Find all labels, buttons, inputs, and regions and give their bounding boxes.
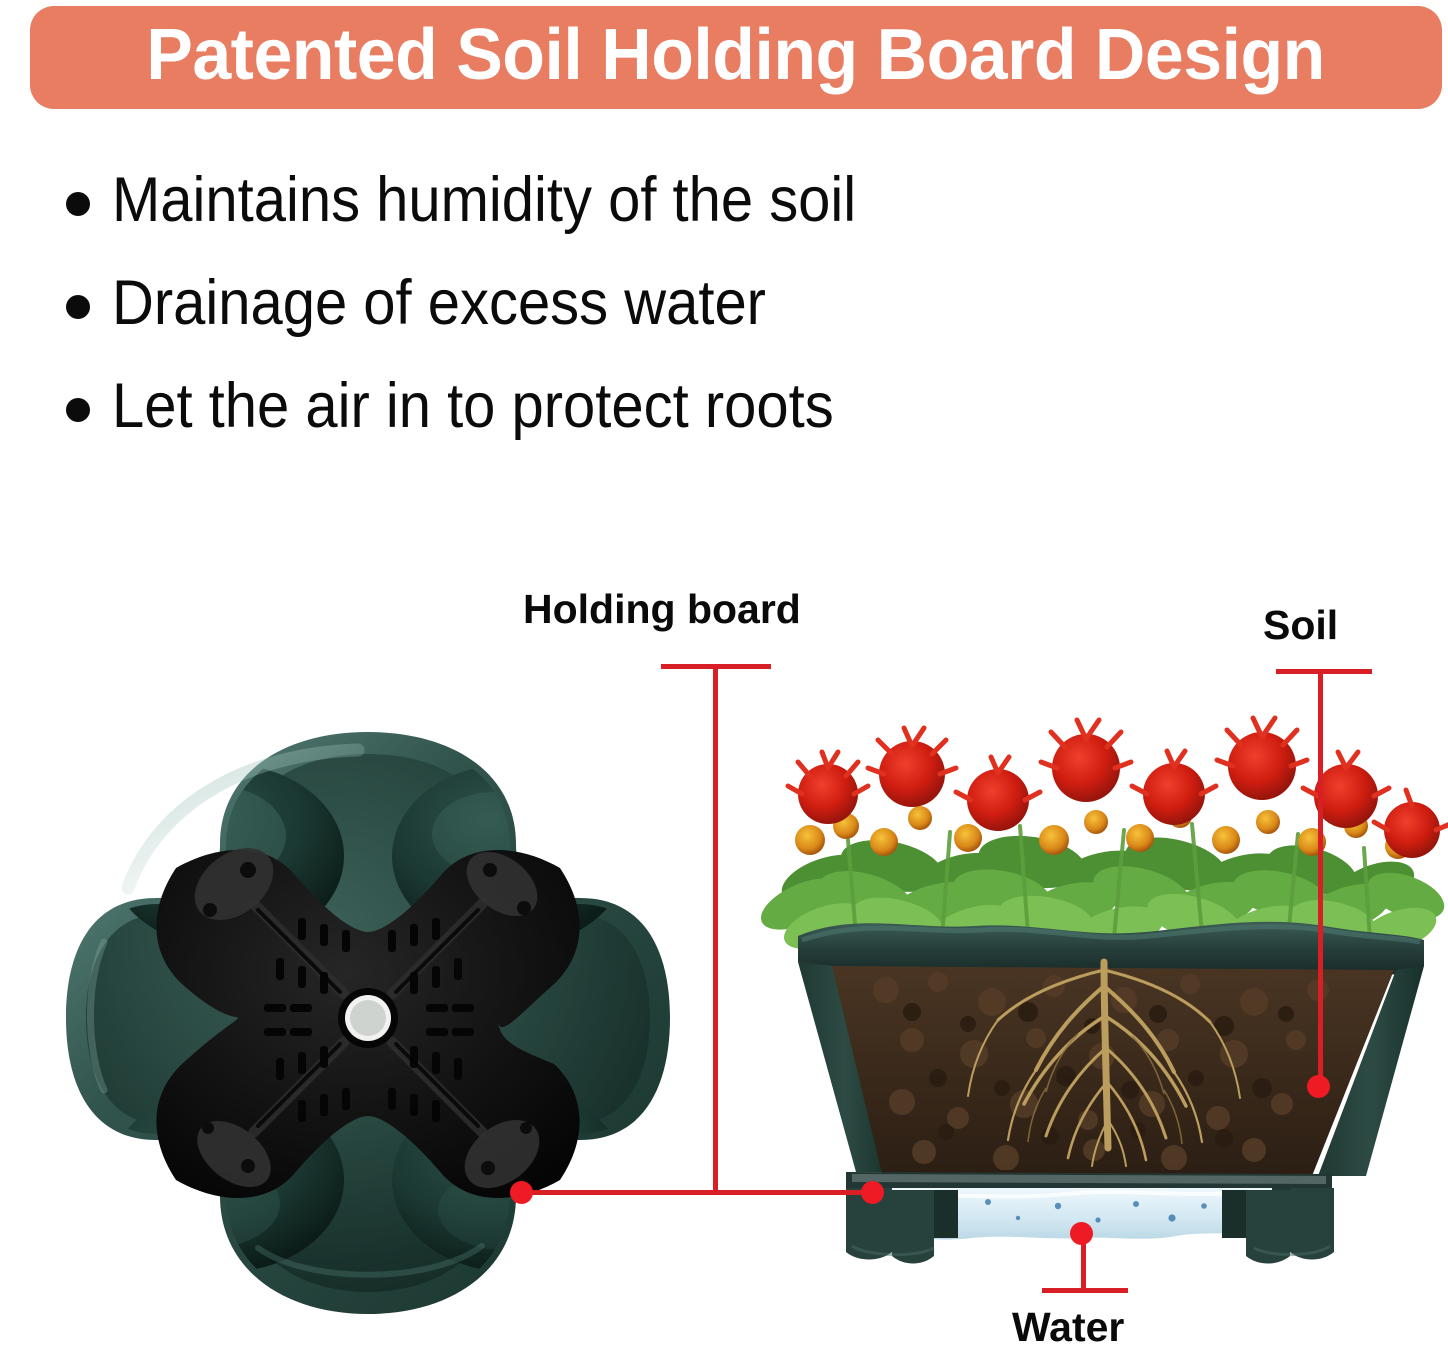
bullet-dot-icon [66, 192, 90, 216]
list-item: Let the air in to protect roots [66, 358, 1166, 461]
leader-line-soil-stem [1318, 669, 1323, 1089]
list-item: Drainage of excess water [66, 255, 1166, 358]
reservoir-base [846, 1172, 1334, 1264]
top-down-planter-image [58, 718, 678, 1330]
callout-label-water: Water [1012, 1307, 1124, 1348]
bullet-dot-icon [66, 295, 90, 319]
leader-dot-holding-board-left [510, 1181, 533, 1204]
list-item-label: Let the air in to protect roots [112, 375, 834, 445]
soil-body [832, 962, 1394, 1176]
leader-dot-soil [1307, 1075, 1330, 1098]
leader-line-soil-cap [1276, 669, 1372, 674]
feature-list: Maintains humidity of the soil Drainage … [66, 152, 1166, 461]
infographic-page: Patented Soil Holding Board Design Maint… [0, 0, 1448, 1361]
callout-label-soil: Soil [1263, 605, 1338, 646]
leader-line-holding-board-run [521, 1190, 873, 1195]
callout-label-holding-board: Holding board [523, 589, 801, 630]
leader-line-holding-board-stem [713, 664, 718, 1195]
leader-dot-water [1070, 1222, 1093, 1245]
list-item: Maintains humidity of the soil [66, 152, 1166, 255]
header-banner: Patented Soil Holding Board Design [30, 6, 1442, 109]
list-item-label: Drainage of excess water [112, 272, 766, 342]
leader-dot-holding-board-right [861, 1181, 884, 1204]
bullet-dot-icon [66, 398, 90, 422]
planter-cross-section-image [706, 690, 1448, 1300]
page-title: Patented Soil Holding Board Design [147, 19, 1326, 97]
list-item-label: Maintains humidity of the soil [112, 169, 856, 239]
